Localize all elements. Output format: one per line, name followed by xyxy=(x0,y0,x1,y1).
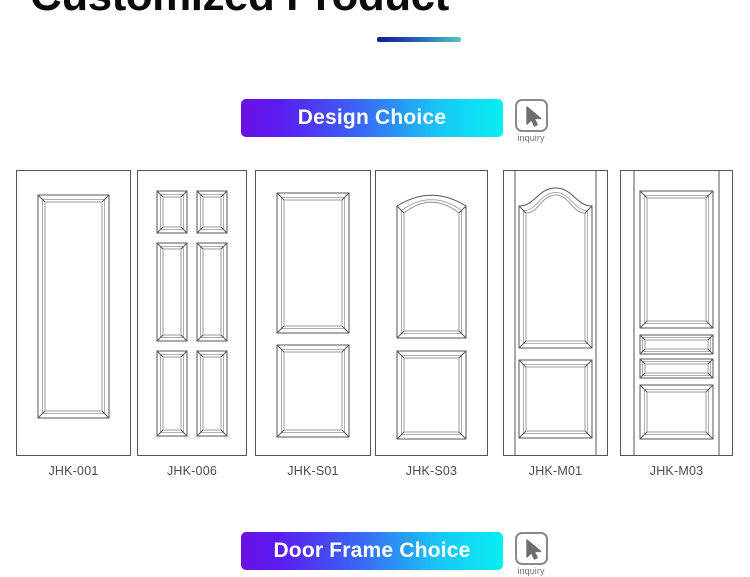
door-illustration-jhk-001 xyxy=(16,163,131,459)
door-option-jhk-m03[interactable]: JHK-M03 xyxy=(620,163,733,459)
inquiry-label: inquiry xyxy=(517,567,544,576)
title-underline-accent xyxy=(377,37,461,42)
customized-product-page: Customized Product Design Choice inquiry… xyxy=(0,0,750,577)
inquiry-box[interactable] xyxy=(515,532,548,565)
door-frame-choice-inquiry-button[interactable]: inquiry xyxy=(513,532,549,576)
cursor-arrow-icon xyxy=(526,539,544,560)
inquiry-box[interactable] xyxy=(515,99,548,132)
cursor-arrow-icon xyxy=(526,106,544,127)
door-option-jhk-m01[interactable]: JHK-M01 xyxy=(503,163,608,459)
door-illustration-jhk-s01 xyxy=(255,163,371,459)
door-option-jhk-006[interactable]: JHK-006 xyxy=(137,163,247,459)
inquiry-label: inquiry xyxy=(517,134,544,143)
page-title: Customized Product xyxy=(30,0,449,18)
door-code-label: JHK-006 xyxy=(137,464,247,478)
door-code-label: JHK-001 xyxy=(16,464,131,478)
door-code-label: JHK-M01 xyxy=(503,464,608,478)
design-choice-inquiry-button[interactable]: inquiry xyxy=(513,99,549,143)
door-code-label: JHK-S03 xyxy=(375,464,488,478)
door-frame-choice-header: Door Frame Choice inquiry xyxy=(241,532,549,576)
door-illustration-jhk-m03 xyxy=(620,163,733,459)
door-option-jhk-001[interactable]: JHK-001 xyxy=(16,163,131,459)
door-illustration-jhk-m01 xyxy=(503,163,608,459)
door-frame-choice-button[interactable]: Door Frame Choice xyxy=(241,532,503,570)
door-illustration-jhk-s03 xyxy=(375,163,488,459)
door-design-grid: JHK-001JHK-006JHK-S01JHK-S03JHK-M01JHK-M… xyxy=(0,163,750,308)
door-option-jhk-s01[interactable]: JHK-S01 xyxy=(255,163,371,459)
design-choice-header: Design Choice inquiry xyxy=(241,99,549,143)
door-illustration-jhk-006 xyxy=(137,163,247,459)
door-code-label: JHK-M03 xyxy=(620,464,733,478)
door-code-label: JHK-S01 xyxy=(255,464,371,478)
door-option-jhk-s03[interactable]: JHK-S03 xyxy=(375,163,488,459)
design-choice-button[interactable]: Design Choice xyxy=(241,99,503,137)
